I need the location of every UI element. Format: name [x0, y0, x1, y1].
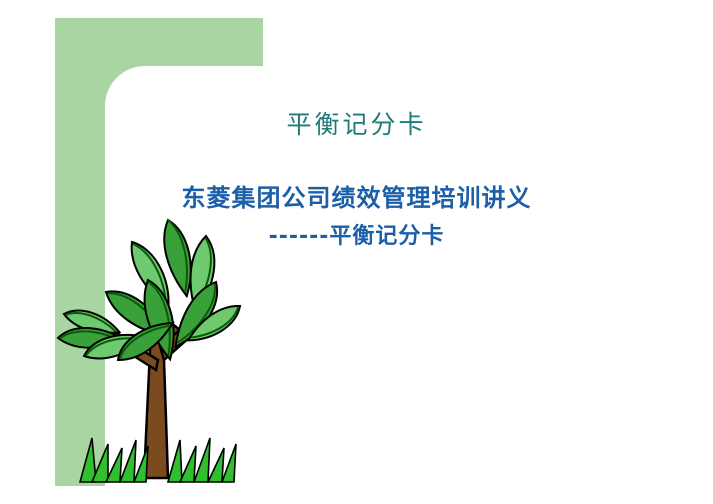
- slide-canvas: 平衡记分卡 东菱集团公司绩效管理培训讲义 ------平衡记分卡: [0, 0, 713, 504]
- slide-subtitle-line1: 东菱集团公司绩效管理培训讲义: [0, 178, 713, 213]
- slide-title: 平衡记分卡: [0, 105, 713, 141]
- tree-illustration: [40, 210, 310, 490]
- leaves-icon: [57, 218, 246, 365]
